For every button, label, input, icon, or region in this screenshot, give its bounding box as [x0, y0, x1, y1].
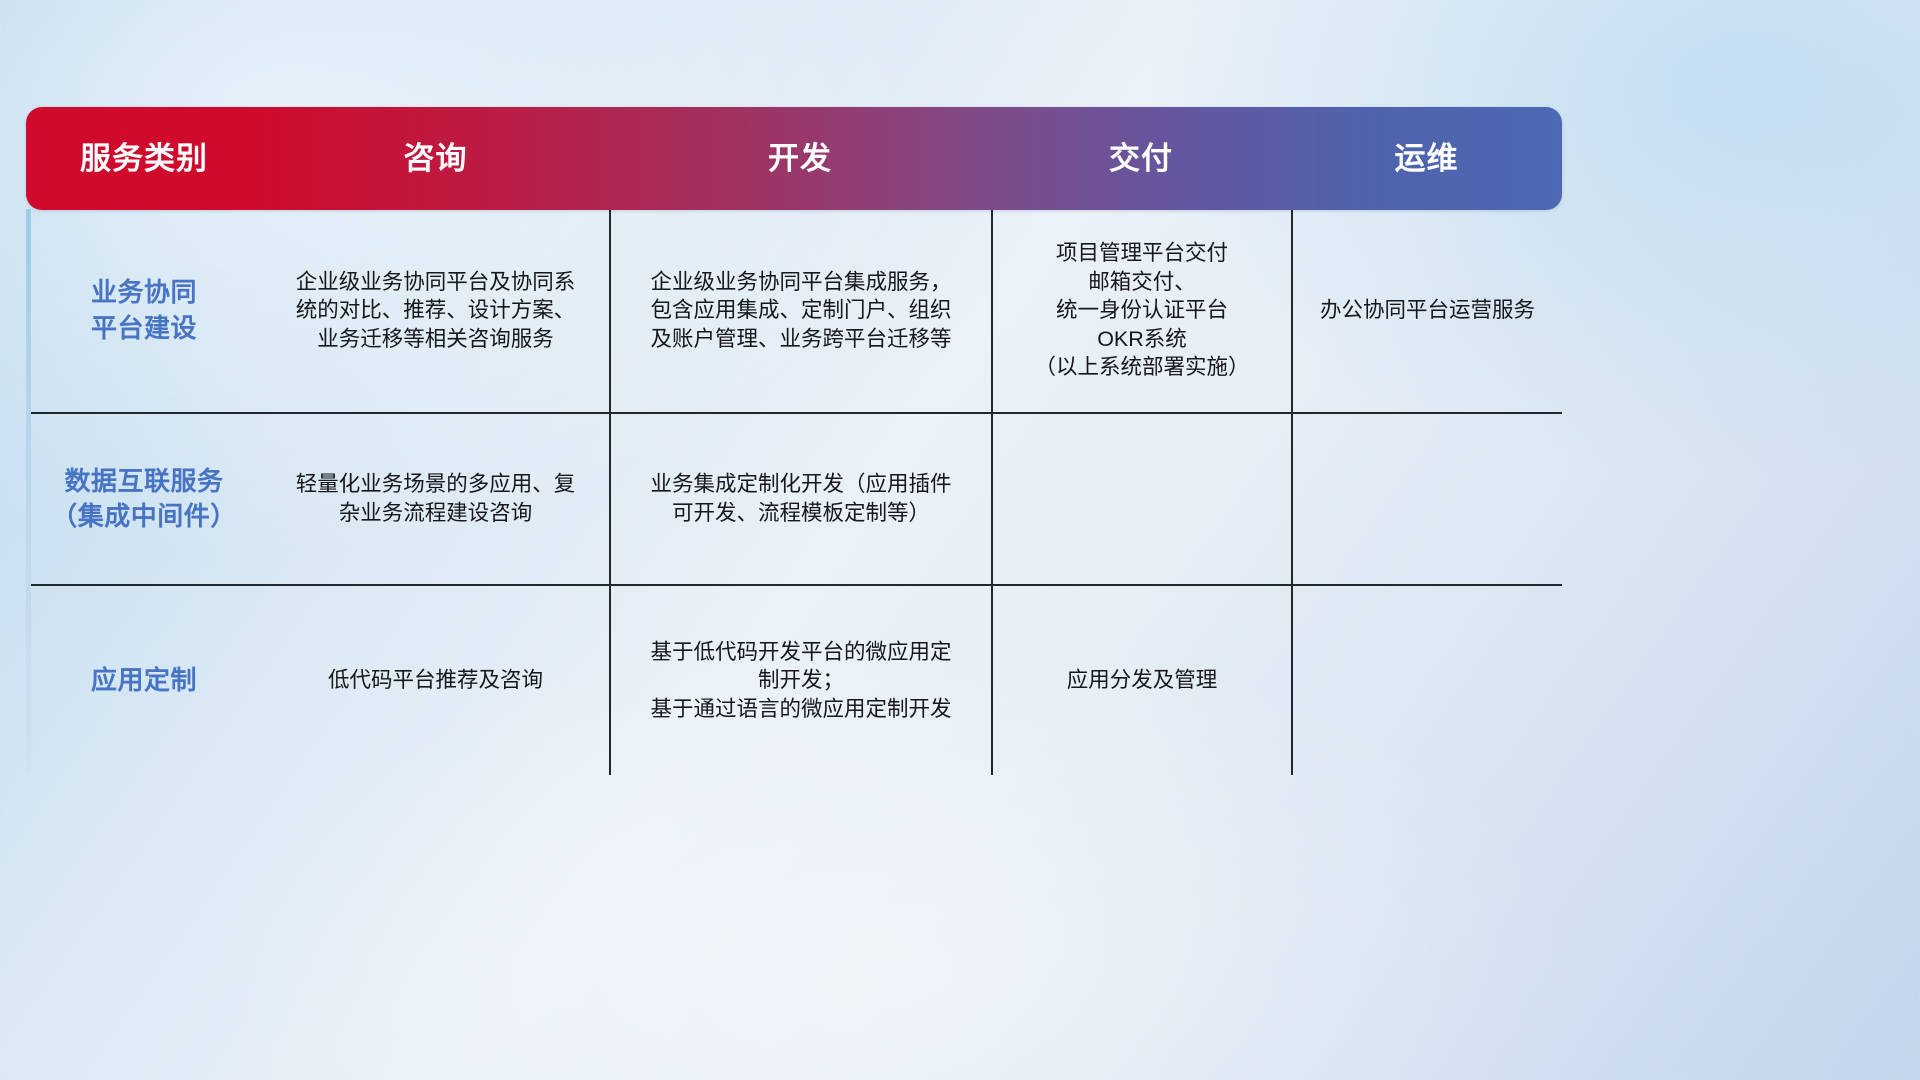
column-header-development: 开发 [609, 140, 991, 177]
cell-delivery-row2 [991, 414, 1291, 584]
service-matrix-table: 服务类别 咨询 开发 交付 运维 业务协同 平台建设 企业级业务协同平台及协同系… [26, 107, 1562, 776]
row-label-application-customization: 应用定制 [26, 586, 262, 775]
table-row: 应用定制 低代码平台推荐及咨询 基于低代码开发平台的微应用定 制开发； 基于通过… [26, 586, 1562, 775]
column-header-operations: 运维 [1291, 140, 1562, 177]
cell-consulting-row1: 企业级业务协同平台及协同系 统的对比、推荐、设计方案、 业务迁移等相关咨询服务 [262, 209, 609, 412]
cell-delivery-row3: 应用分发及管理 [991, 586, 1291, 775]
cell-delivery-row1: 项目管理平台交付 邮箱交付、 统一身份认证平台 OKR系统 （以上系统部署实施） [991, 209, 1291, 412]
cell-development-row3: 基于低代码开发平台的微应用定 制开发； 基于通过语言的微应用定制开发 [609, 586, 991, 775]
column-header-category: 服务类别 [26, 140, 262, 177]
cell-operations-row2 [1291, 414, 1562, 584]
column-header-consulting: 咨询 [262, 140, 609, 177]
table-header-row: 服务类别 咨询 开发 交付 运维 [26, 107, 1562, 210]
cell-operations-row1: 办公协同平台运营服务 [1291, 209, 1562, 412]
cell-consulting-row2: 轻量化业务场景的多应用、复 杂业务流程建设咨询 [262, 414, 609, 584]
cell-development-row1: 企业级业务协同平台集成服务， 包含应用集成、定制门户、组织 及账户管理、业务跨平… [609, 209, 991, 412]
cell-consulting-row3: 低代码平台推荐及咨询 [262, 586, 609, 775]
column-header-delivery: 交付 [991, 140, 1291, 177]
table-body: 业务协同 平台建设 企业级业务协同平台及协同系 统的对比、推荐、设计方案、 业务… [26, 209, 1562, 775]
row-label-data-interconnection: 数据互联服务 （集成中间件） [26, 414, 262, 584]
table-row: 业务协同 平台建设 企业级业务协同平台及协同系 统的对比、推荐、设计方案、 业务… [26, 209, 1562, 414]
row-label-business-collaboration: 业务协同 平台建设 [26, 209, 262, 412]
table-row: 数据互联服务 （集成中间件） 轻量化业务场景的多应用、复 杂业务流程建设咨询 业… [26, 414, 1562, 586]
cell-operations-row3 [1291, 586, 1562, 775]
cell-development-row2: 业务集成定制化开发（应用插件 可开发、流程模板定制等） [609, 414, 991, 584]
